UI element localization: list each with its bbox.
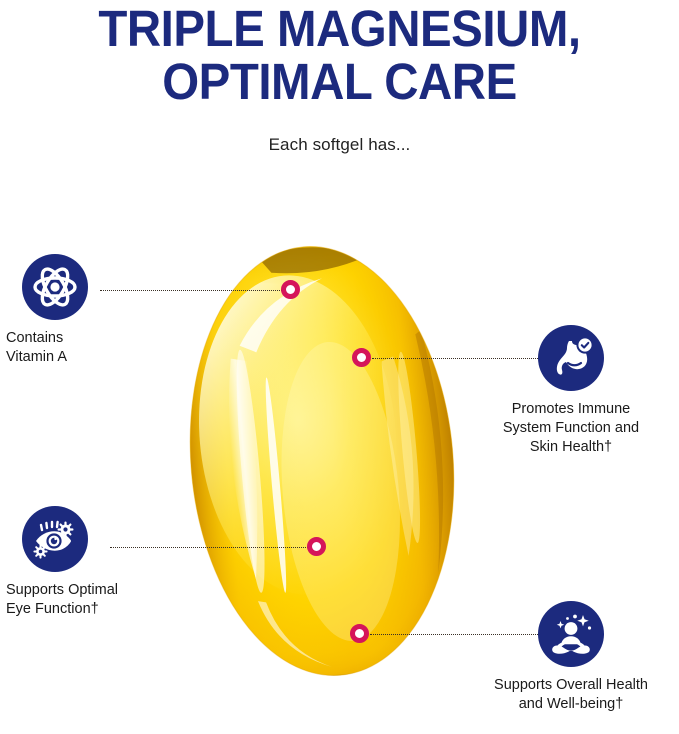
marker-immune[interactable] [352,348,371,367]
feature-vitamin-a[interactable]: Contains Vitamin A [6,254,181,367]
headline-line-2: OPTIMAL CARE [24,55,655,108]
feature-eye[interactable]: Supports Optimal Eye Function† [6,506,191,619]
softgel-capsule [188,243,456,679]
meditation-sparkle-icon-badge[interactable] [538,601,604,667]
stomach-check-icon [538,325,604,391]
marker-wellbeing[interactable] [350,624,369,643]
atom-icon [22,254,88,320]
stomach-check-icon-badge[interactable] [538,325,604,391]
feature-wellbeing[interactable]: Supports Overall Health and Well-being† [463,601,679,714]
meditation-sparkle-icon [538,601,604,667]
subtitle: Each softgel has... [0,135,679,155]
feature-label-vitamin-a: Contains Vitamin A [6,329,181,367]
softgel-illustration [188,243,456,679]
eye-gear-icon-badge[interactable] [22,506,88,572]
feature-label-eye: Supports Optimal Eye Function† [6,581,191,619]
marker-vitamin-a[interactable] [281,280,300,299]
headline-line-1: TRIPLE MAGNESIUM, [24,2,655,55]
infographic-canvas: TRIPLE MAGNESIUM, OPTIMAL CARE Each soft… [0,0,679,734]
feature-label-wellbeing: Supports Overall Health and Well-being† [463,676,679,714]
marker-eye[interactable] [307,537,326,556]
page-title: TRIPLE MAGNESIUM, OPTIMAL CARE [24,2,655,108]
feature-label-immune: Promotes Immune System Function and Skin… [463,400,679,457]
feature-immune[interactable]: Promotes Immune System Function and Skin… [463,325,679,457]
eye-gear-icon [22,506,88,572]
atom-icon-badge[interactable] [22,254,88,320]
